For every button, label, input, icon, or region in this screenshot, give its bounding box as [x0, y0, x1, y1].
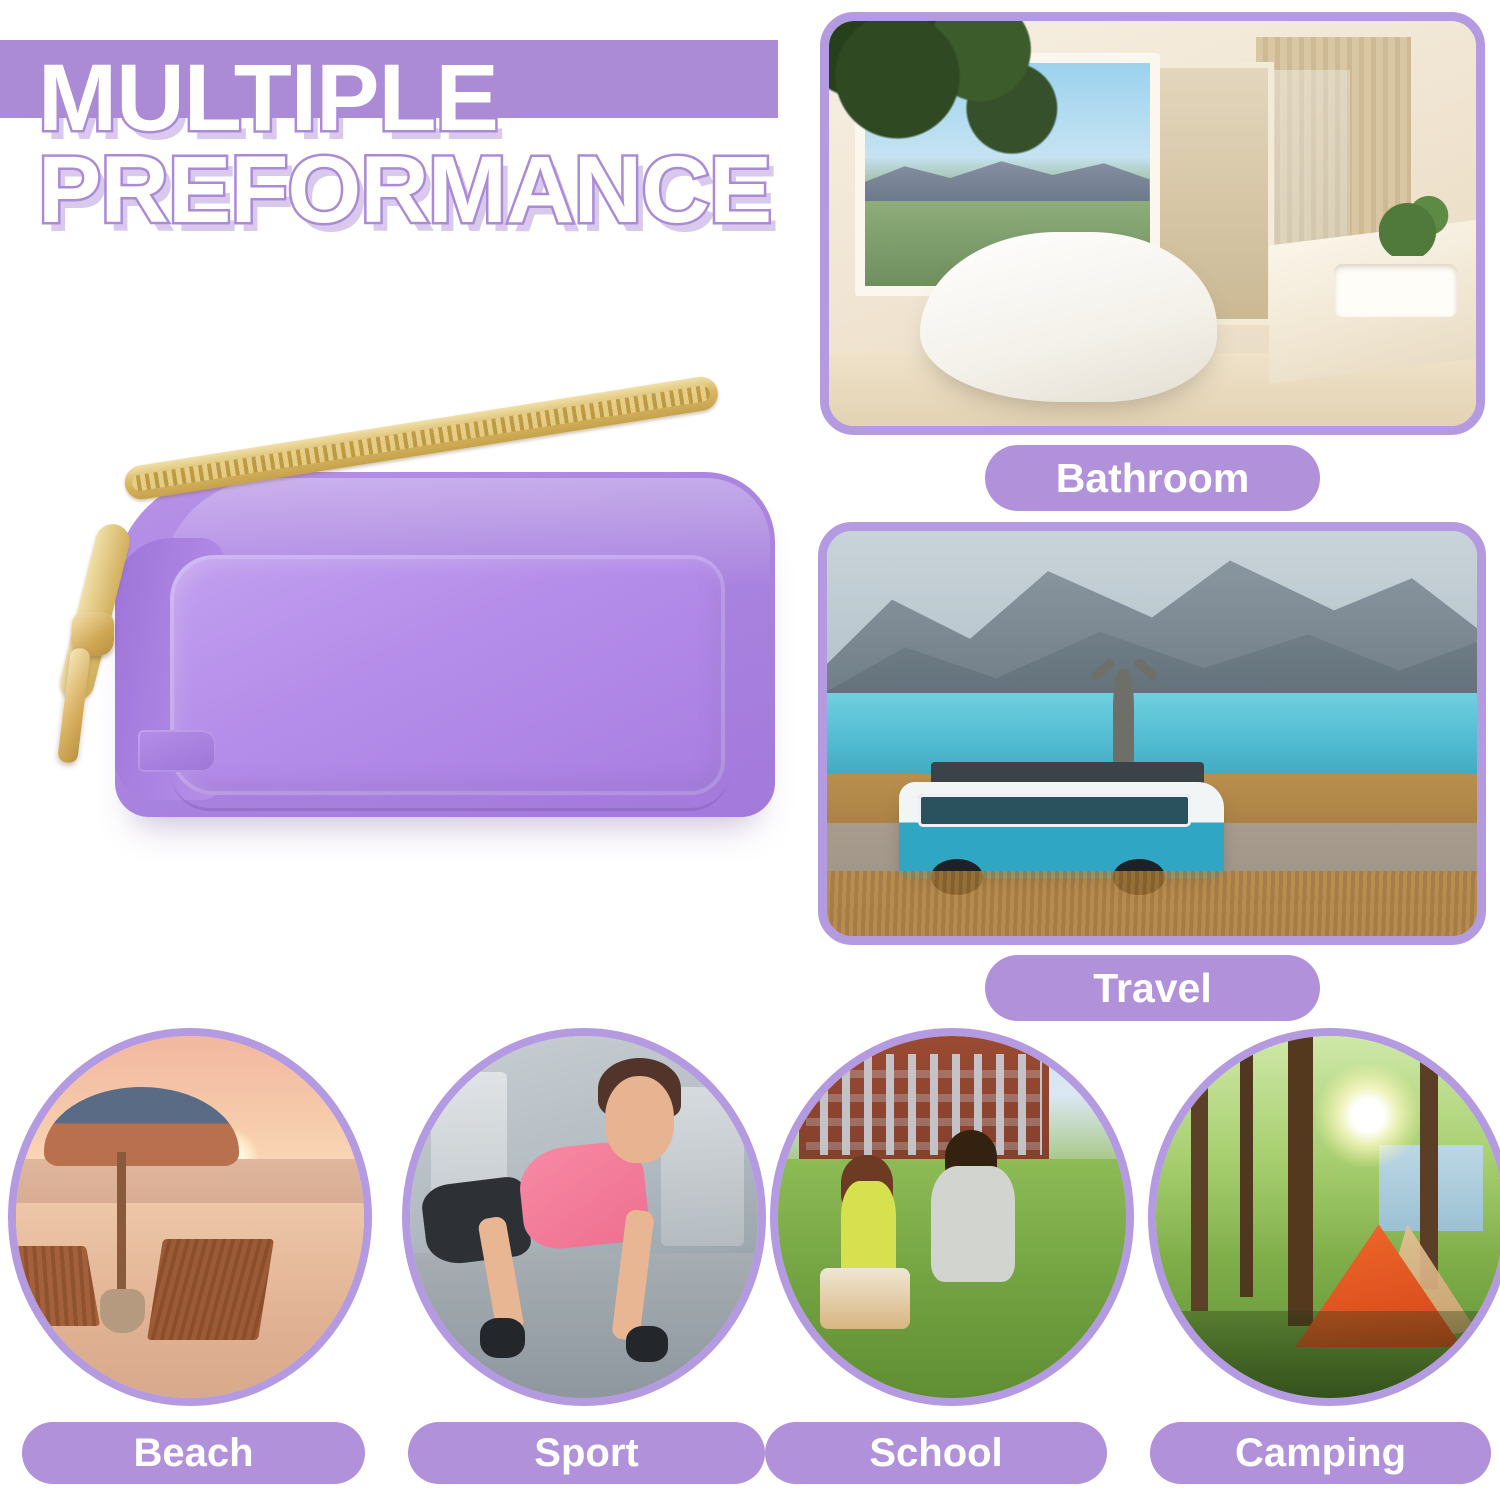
label-text-beach: Beach	[133, 1431, 253, 1476]
pouch-bottom-seam	[170, 770, 730, 811]
circle-card-school	[770, 1028, 1134, 1406]
umbrella-pole	[117, 1152, 126, 1304]
label-pill-camping: Camping	[1150, 1422, 1491, 1484]
vanity-sink	[1334, 264, 1457, 317]
student-boy	[931, 1166, 1015, 1282]
tree-trunk-2	[1240, 1043, 1254, 1296]
van-windows	[918, 794, 1191, 826]
forest-floor-shadow	[1156, 1311, 1500, 1398]
label-text-sport: Sport	[534, 1431, 638, 1476]
circle-card-camping	[1148, 1028, 1500, 1406]
scene-travel	[827, 531, 1477, 936]
label-pill-beach: Beach	[22, 1422, 365, 1484]
pouch-side-tab	[138, 730, 216, 772]
scene-school	[778, 1036, 1126, 1398]
label-text-bathroom: Bathroom	[1056, 455, 1250, 502]
photo-card-travel	[818, 522, 1486, 945]
zipper-pull-tab	[57, 647, 91, 764]
tree-trunk-1	[1191, 1050, 1208, 1311]
product-image-pouch	[20, 430, 810, 860]
pouch-front-panel	[170, 555, 725, 795]
label-text-school: School	[869, 1431, 1002, 1476]
deck-chair-left	[9, 1246, 100, 1326]
scene-beach	[16, 1036, 364, 1398]
deck-chair-right	[147, 1239, 274, 1340]
photo-card-bathroom	[820, 12, 1485, 435]
student-girl	[841, 1181, 897, 1282]
headline-block: MULTIPLE PREFORMANCE	[0, 38, 820, 308]
circle-card-beach	[8, 1028, 372, 1406]
circle-card-sport	[402, 1028, 766, 1406]
workout-glove-right	[626, 1326, 668, 1362]
label-pill-school: School	[765, 1422, 1107, 1484]
gym-floor	[410, 1253, 758, 1398]
workout-glove-left	[480, 1318, 525, 1358]
scene-sport	[410, 1036, 758, 1398]
page-title: MULTIPLE PREFORMANCE	[38, 52, 828, 236]
label-text-camping: Camping	[1235, 1431, 1406, 1476]
person-arms-raised	[1113, 669, 1134, 766]
building-windows	[806, 1054, 1043, 1155]
dry-grass-foreground	[827, 871, 1477, 936]
tree-trunk-3	[1288, 1036, 1312, 1326]
window-tree-foliage	[820, 12, 1088, 183]
athlete-legs	[419, 1175, 532, 1267]
student-bag	[820, 1268, 910, 1330]
counter-plant	[1379, 175, 1450, 256]
scene-camping	[1156, 1036, 1500, 1398]
sun-rays	[1316, 1065, 1420, 1166]
label-pill-sport: Sport	[408, 1422, 765, 1484]
label-pill-bathroom: Bathroom	[985, 445, 1320, 511]
umbrella-base	[100, 1289, 145, 1332]
scene-bathroom	[829, 21, 1476, 426]
label-text-travel: Travel	[1093, 965, 1212, 1012]
label-pill-travel: Travel	[985, 955, 1320, 1021]
athlete-head	[605, 1076, 675, 1163]
